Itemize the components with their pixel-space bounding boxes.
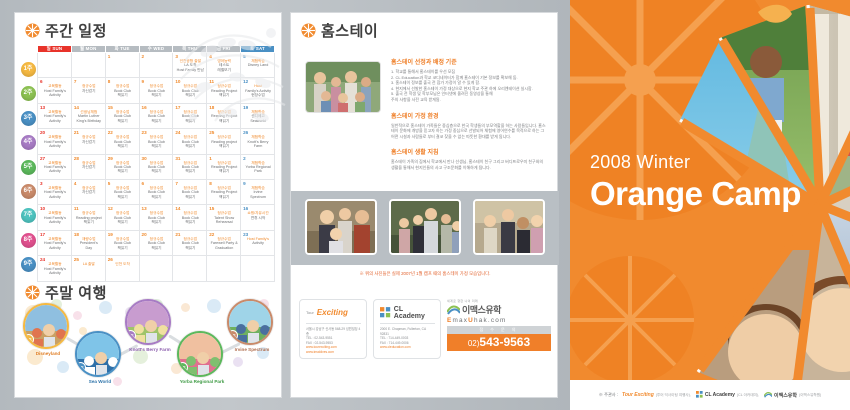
calendar-cell-text: 정규수업Book Club책읽기	[142, 110, 172, 123]
calendar-cell-text: 정규수업Book Club책읽기	[108, 237, 138, 250]
calendar-cell-text: 교육활동Host Family'sActivity	[40, 161, 70, 174]
calendar-cell-line: 레벨보기	[210, 68, 238, 72]
calendar-cell-line: Activity	[41, 119, 69, 123]
calendar-cell-line: 자신감기	[75, 140, 103, 144]
decorative-bubble	[207, 299, 221, 313]
decorative-bubble	[73, 311, 82, 320]
calendar-cell-text: 정규수업자신감기	[74, 186, 104, 195]
cl-academy-url[interactable]: www.cleducation.com	[380, 345, 435, 350]
calendar-cell[interactable]	[38, 53, 72, 78]
tour-exciting-logo: Tour Exciting	[306, 305, 361, 320]
calendar-cell[interactable]: 2	[139, 53, 173, 78]
calendar-cell-line: King's Birthday	[75, 119, 103, 123]
cl-academy-logo: CL Academy	[380, 305, 435, 320]
orange-slice-icon	[301, 23, 316, 38]
calendar-cell-line: Park	[244, 169, 272, 173]
calendar-cell-text: 체험학습Yorba RegionalPark	[243, 161, 273, 174]
cl-academy-logo-text: CL Academy	[394, 306, 435, 320]
calendar-cell-line: Disney Land	[244, 63, 272, 67]
trip-week-badge: 4주	[125, 330, 136, 341]
calendar-cell-text: 인천공항 출발LA 도착Host Family 만남	[175, 59, 205, 72]
calendar-cell-line: 책읽기	[176, 195, 204, 199]
divider	[306, 323, 361, 324]
week-badge-9: 9주	[21, 257, 36, 272]
calendar-cell-line: 책읽기	[210, 144, 238, 148]
calendar-cell-line: Activity	[41, 220, 69, 224]
calendar-cell[interactable]: 21정규수업Book Club책읽기	[173, 230, 207, 255]
week-badge-6: 6주	[21, 184, 36, 199]
calendar-cell[interactable]: 21정규수업자신감기	[71, 129, 105, 154]
calendar-cell[interactable]: 12정규수업Book Club책읽기	[105, 205, 139, 230]
tour-exciting-address: 서울시 강남구 신사동 568-29 성원빌딩 4층	[306, 327, 361, 336]
calendar-cell-text: 정규수업Book Club책읽기	[175, 84, 205, 97]
sponsor-name: CL Academy	[705, 392, 735, 398]
calendar-cell-text: 정규수업Farewell Party &Graduation	[209, 237, 239, 250]
sponsor-3: 이맥스유학(이맥스유학원)	[764, 391, 821, 399]
trip-destination-label: Knott's Berry Farm	[125, 347, 175, 352]
emax-swoosh-icon	[447, 304, 460, 315]
homestay-block-heading: 홈스테이 생활 지침	[391, 147, 547, 156]
trip-destination-label: Yorba Regional Park	[177, 379, 227, 384]
cl-academy-dots-icon	[380, 307, 391, 318]
calendar-cell-line: 책읽기	[176, 220, 204, 224]
orange-slice-icon	[25, 23, 40, 38]
tour-exciting-logo-small: Tour	[306, 310, 314, 315]
calendar-cell-line: Farm	[244, 144, 272, 148]
calendar-cell[interactable]: 22정규수업Book Club책읽기	[105, 129, 139, 154]
trip-week-badge: 3주	[75, 362, 86, 373]
homestay-family-photo-2	[389, 199, 461, 255]
calendar-cell-line: 책읽기	[143, 169, 171, 173]
calendar-cell[interactable]: 17교육활동Host Family'sActivity	[38, 230, 72, 255]
weekend-trip-section: 주말 여행 1주Disneyland3주Sea World4주Knott's B…	[15, 275, 283, 399]
calendar-cell[interactable]: 16쇼핑/자유시간연휴 시작	[241, 205, 275, 230]
week-badge-8: 8주	[21, 233, 36, 248]
calendar-cell[interactable]: 9체험학습IrvineSpectrum	[241, 179, 275, 204]
calendar-cell-text: HostFamily's Activity현장수업	[243, 84, 273, 97]
calendar-cell-line: 책읽기	[109, 246, 137, 250]
emax-tel-digits: 543-9563	[479, 335, 530, 349]
cl-academy-address: 2000 E. Chapman, Fullerton, CA 92831	[380, 327, 435, 336]
calendar-cell[interactable]: 1	[105, 53, 139, 78]
calendar-cell[interactable]: 20교육활동Host Family'sActivity	[38, 129, 72, 154]
calendar-cell-line: Graduation	[210, 246, 238, 250]
brochure-page: 주간 일정 1주2주3주4주5주6주7주8주9주 일 SUN월 MON화 TUE…	[0, 0, 850, 410]
calendar-cell[interactable]: 11정규수업Reading project책읽기	[71, 205, 105, 230]
calendar-cell-text: 교육활동Host Family'sActivity	[40, 186, 70, 199]
calendar-cell[interactable]: 27교육활동Host Family'sActivity	[38, 154, 72, 179]
calendar-cell[interactable]: 3교육활동Host Family'sActivity	[38, 179, 72, 204]
week-badge-4: 4주	[21, 135, 36, 150]
calendar-cell[interactable]: 15정규수업Talent ShowRehearsal	[207, 205, 241, 230]
calendar-cell-text: 정규수업Reading Project책읽기	[209, 161, 239, 174]
homestay-group-photo	[305, 61, 381, 113]
sponsor-korean-name: (투어 익사이팅 여행사),	[656, 393, 691, 398]
calendar-cell[interactable]: 19정규수업Book Club책읽기	[105, 230, 139, 255]
calendar-cell-line: 자신감기	[75, 190, 103, 194]
calendar-cell[interactable]: 11정규수업Reading Project책읽기	[207, 78, 241, 103]
calendar-cell[interactable]: 31정규수업Book Club책읽기	[173, 154, 207, 179]
calendar-cell-text: Host Family'sActivity	[243, 237, 273, 246]
calendar-cell[interactable]: 14정규수업Book Club책읽기	[173, 205, 207, 230]
calendar-cell-line: 책읽기	[143, 220, 171, 224]
sponsor-1: Tour Exciting(투어 익사이팅 여행사),	[622, 392, 691, 398]
calendar-cell[interactable]: 25정규수업Reading project책읽기	[207, 129, 241, 154]
divider	[380, 323, 435, 324]
trip-photo: 3주	[75, 331, 121, 377]
homestay-family-photo-1	[305, 199, 377, 255]
calendar-cell-text: 정규수업Talent ShowRehearsal	[209, 211, 239, 224]
emax-phone-number[interactable]: 02)543-9563	[447, 334, 551, 351]
calendar-cell[interactable]: 24정규수업Book Club책읽기	[173, 129, 207, 154]
homestay-list-tail: 주의 사항을 사전 교육 받게됨.	[391, 97, 547, 103]
calendar-cell[interactable]: 29정규수업Book Club책읽기	[105, 154, 139, 179]
decorative-bubble	[233, 357, 243, 367]
calendar-cell[interactable]: 8정규수업Book Club책읽기	[105, 78, 139, 103]
calendar-cell[interactable]: 7정규수업Book Club책읽기	[173, 179, 207, 204]
calendar-row: 17교육활동Host Family'sActivity18재량수업Preside…	[38, 230, 275, 255]
calendar-cell-line: 책읽기	[143, 119, 171, 123]
sponsor-logo-icon: Tour Exciting	[622, 392, 654, 398]
trip-destination[interactable]: 6주Irvine Spectrum	[227, 299, 277, 352]
calendar-cell-line: Activity	[41, 195, 69, 199]
calendar-cell-text: 체험학습IrvineSpectrum	[243, 186, 273, 199]
calendar-cell-line: 책읽기	[109, 93, 137, 97]
homestay-block: 홈스테이 생활 지침홈스테이 가족의 집에서 학교에서 만나 선생님, 홈스테이…	[391, 147, 547, 170]
calendar-cell-text: 정규수업Book Club책읽기	[108, 161, 138, 174]
decorative-bubble	[99, 301, 112, 314]
calendar-cell[interactable]: 19체험학습샌디에고Seaworld	[241, 103, 275, 128]
calendar-cell-line: LA 출발	[75, 262, 103, 266]
calendar-body: 123인천공항 출발LA 도착Host Family 만남4영어능력테스트레벨보…	[38, 53, 275, 282]
panel-weekly-schedule: 주간 일정 1주2주3주4주5주6주7주8주9주 일 SUN월 MON화 TUE…	[14, 12, 282, 398]
calendar-cell[interactable]: 30정규수업Book Club책읽기	[139, 154, 173, 179]
calendar-cell-line: Day	[75, 246, 103, 250]
calendar-cell-text: 정규수업Book Club책읽기	[142, 237, 172, 250]
calendar-cell[interactable]: 14선생님체험Martin LutherKing's Birthday	[71, 103, 105, 128]
trip-week-badge: 6주	[227, 330, 238, 341]
calendar-cell-text: 정규수업자신감기	[74, 84, 104, 93]
homestay-family-photo-3	[473, 199, 545, 255]
calendar-cell-text: 교육활동Host Family'sActivity	[40, 84, 70, 97]
trip-destination[interactable]: 1주Disneyland	[23, 303, 73, 356]
trip-destination-label: Sea World	[75, 379, 125, 384]
calendar-cell-line: 책읽기	[210, 169, 238, 173]
calendar-cell-text: 정규수업Book Club책읽기	[142, 84, 172, 97]
calendar-row: 13교육활동Host Family'sActivity14선생님체험Martin…	[38, 103, 275, 128]
calendar-header-4: 목 THU	[173, 46, 207, 53]
calendar-cell-text: 정규수업Book Club책읽기	[175, 110, 205, 123]
emax-logo-text: 이맥스유학	[462, 303, 501, 316]
calendar-row: 10교육활동Host Family'sActivity11정규수업Reading…	[38, 205, 275, 230]
trip-photo: 6주	[227, 299, 273, 345]
calendar-header-2: 화 TUE	[105, 46, 139, 53]
footer-partner-row: Tour Exciting 서울시 강남구 신사동 568-29 성원빌딩 4층…	[299, 299, 551, 359]
calendar-cell-text: 정규수업Book Club책읽기	[108, 211, 138, 224]
calendar-cell[interactable]: 23Host Family'sActivity	[241, 230, 275, 255]
calendar-cell-line: 책읽기	[109, 220, 137, 224]
calendar-cell-text: 정규수업Book Club책읽기	[142, 161, 172, 174]
calendar-header-3: 수 WED	[139, 46, 173, 53]
footer-card-emax: 세계로 향한 나의 미래 이맥스유학 EmaxUhak.com 접 수 문 의 …	[447, 299, 551, 359]
calendar-cell-line: 인천 도착	[109, 262, 137, 266]
panel-cover: 2008 Winter Orange Camp ※ 주관사 : Tour Exc…	[570, 0, 850, 410]
panel-homestay: 홈스테이 홈스테이 선정과 배정 기준1. 학교를 통해서 홈스테이를 우선 모…	[290, 12, 558, 398]
calendar-cell[interactable]: 12HostFamily's Activity현장수업	[241, 78, 275, 103]
calendar-row: 123인천공항 출발LA 도착Host Family 만남4영어능력테스트레벨보…	[38, 53, 275, 78]
calendar-table: 일 SUN월 MON화 TUE수 WED목 THU금 FRI토 SAT 123인…	[37, 45, 275, 282]
calendar-cell-line: Reading Project	[210, 114, 238, 118]
calendar-cell-text: 교육활동Host Family'sActivity	[40, 110, 70, 123]
calendar-cell-text: 정규수업Book Club책읽기	[175, 237, 205, 250]
photo-strip-caption: ※ 위의 사진들은 실제 2007년 1월 캠프 때의 홈스테이 가정 모습입니…	[291, 271, 559, 277]
calendar-cell[interactable]: 20정규수업Book Club책읽기	[139, 230, 173, 255]
week-badge-3: 3주	[21, 111, 36, 126]
calendar-cell-line: 자신감기	[75, 89, 103, 93]
calendar-cell-line: 책읽기	[210, 195, 238, 199]
calendar-cell[interactable]: 10정규수업Book Club책읽기	[173, 78, 207, 103]
calendar-cell[interactable]: 23정규수업Book Club책읽기	[139, 129, 173, 154]
trip-week-badge: 1주	[23, 334, 34, 345]
calendar-cell-line: 책읽기	[109, 195, 137, 199]
sponsor-logo-icon	[696, 391, 703, 399]
calendar-cell[interactable]: 15정규수업Book Club책읽기	[105, 103, 139, 128]
calendar-cell-text: 교육활동Host Family'sActivity	[40, 262, 70, 275]
sponsor-2: CL Academy(CL 아카데미),	[696, 391, 759, 399]
homestay-block-heading: 홈스테이 가정 환경	[391, 111, 547, 120]
footer-card-tour-exciting: Tour Exciting 서울시 강남구 신사동 568-29 성원빌딩 4층…	[299, 299, 367, 359]
calendar-cell-text: 인천 도착	[108, 262, 138, 266]
calendar-cell-line: 책읽기	[143, 246, 171, 250]
calendar-cell-text: 정규수업Book Club책읽기	[108, 110, 138, 123]
calendar-cell-text: 영어능력테스트레벨보기	[209, 59, 239, 72]
calendar-cell-line: Activity	[41, 93, 69, 97]
calendar-cell-line: Activity	[41, 169, 69, 173]
trip-destination-label: Irvine Spectrum	[227, 347, 277, 352]
calendar-cell-text: 선생님체험Martin LutherKing's Birthday	[74, 110, 104, 123]
homestay-block: 홈스테이 가정 환경일반적으로 홈스테이 가족들은 중심층으로 한국 학생들의 …	[391, 111, 547, 140]
homestay-paragraph: 홈스테이 가족의 집에서 학교에서 만나 선생님, 홈스테이 친구 그리고 버디…	[391, 159, 547, 170]
week-badge-column: 1주2주3주4주5주6주7주8주9주	[19, 45, 37, 282]
footer-card-cl-academy: CL Academy 2000 E. Chapman, Fullerton, C…	[373, 299, 441, 359]
calendar-cell-line: 책읽기	[176, 93, 204, 97]
calendar-cell-line: 책읽기	[176, 169, 204, 173]
calendar-cell-line: Martin Luther	[75, 114, 103, 118]
calendar-cell-line: Host Family's	[41, 114, 69, 118]
tour-exciting-url-2[interactable]: www.tmaldives.com	[306, 350, 361, 355]
homestay-text-body: 홈스테이 선정과 배정 기준1. 학교를 통해서 홈스테이를 우선 모집2. C…	[391, 57, 547, 179]
homestay-title: 홈스테이	[321, 20, 378, 41]
calendar-cell[interactable]: 6교육활동Host Family'sActivity	[38, 78, 72, 103]
calendar-cell-line: Host Family 만남	[176, 68, 204, 72]
calendar-cell-text: 정규수업Reading Project책읽기	[209, 186, 239, 199]
calendar-cell[interactable]: 7정규수업자신감기	[71, 78, 105, 103]
trip-destination[interactable]: 3주Sea World	[75, 331, 125, 384]
calendar-cell[interactable]: 16정규수업Book Club책읽기	[139, 103, 173, 128]
trip-photo: 4주	[125, 299, 171, 345]
calendar-day-number: 1	[108, 54, 138, 59]
weekly-schedule-title: 주간 일정	[45, 20, 107, 41]
trip-photo: 1주	[23, 303, 69, 349]
homestay-paragraph: 일반적으로 홈스테이 가족들은 중심층으로 한국 학생들의 부모역할을 하는 사…	[391, 123, 547, 140]
homestay-header: 홈스테이	[291, 13, 557, 43]
calendar-day-number: 2	[142, 54, 172, 59]
calendar-cell-line: Activity	[244, 241, 272, 245]
calendar-cell-text: 정규수업Book Club책읽기	[175, 135, 205, 148]
calendar-cell-text: 쇼핑/자유시간연휴 시작	[243, 211, 273, 220]
calendar-cell-line: 책읽기	[210, 119, 238, 123]
calendar-cell[interactable]: 8정규수업Reading Project책읽기	[207, 179, 241, 204]
calendar-cell[interactable]: 18재량수업President'sDay	[71, 230, 105, 255]
calendar-cell-line: Farewell Party &	[210, 241, 238, 245]
calendar-row: 20교육활동Host Family'sActivity21정규수업자신감기22정…	[38, 129, 275, 154]
calendar-cell-line: Spectrum	[244, 195, 272, 199]
calendar-cell-text: 재량수업President'sDay	[74, 237, 104, 250]
tour-exciting-logo-main: Exciting	[317, 308, 348, 317]
schedule-calendar: 1주2주3주4주5주6주7주8주9주 일 SUN월 MON화 TUE수 WED목…	[19, 45, 275, 282]
calendar-cell-line: 책읽기	[109, 119, 137, 123]
calendar-cell-line: Host Family's	[41, 241, 69, 245]
calendar-row: 6교육활동Host Family'sActivity7정규수업자신감기8정규수업…	[38, 78, 275, 103]
calendar-cell-text: 정규수업Book Club책읽기	[175, 211, 205, 224]
calendar-cell-line: 책읽기	[176, 119, 204, 123]
trip-map: 1주Disneyland3주Sea World4주Knott's Berry F…	[21, 297, 277, 397]
calendar-cell-text: 정규수업Book Club책읽기	[142, 211, 172, 224]
homestay-block: 홈스테이 선정과 배정 기준1. 학교를 통해서 홈스테이를 우선 모집2. C…	[391, 57, 547, 103]
calendar-cell-line: Activity	[41, 246, 69, 250]
calendar-header-row: 일 SUN월 MON화 TUE수 WED목 THU금 FRI토 SAT	[38, 46, 275, 53]
calendar-cell-line: 책읽기	[109, 169, 137, 173]
calendar-cell-text: 교육활동Host Family'sActivity	[40, 135, 70, 148]
sponsor-label: ※ 주관사 :	[599, 392, 618, 398]
calendar-cell-line: 현장수업	[244, 93, 272, 97]
week-badge-7: 7주	[21, 208, 36, 223]
calendar-cell-text: 체험학습Knott's BerryFarm	[243, 135, 273, 148]
calendar-cell-line: 책읽기	[176, 144, 204, 148]
decorative-bubble	[181, 303, 190, 312]
sponsor-logo-icon	[764, 391, 772, 399]
calendar-cell-text: 정규수업자신감기	[74, 161, 104, 170]
calendar-cell-text: 정규수업Reading Project책읽기	[209, 110, 239, 123]
calendar-row: 27교육활동Host Family'sActivity28정규수업자신감기29정…	[38, 154, 275, 179]
calendar-cell[interactable]: 4영어능력테스트레벨보기	[207, 53, 241, 78]
calendar-cell-line: 책읽기	[143, 93, 171, 97]
calendar-header-1: 월 MON	[71, 46, 105, 53]
calendar-cell[interactable]: 26체험학습Knott's BerryFarm	[241, 129, 275, 154]
weekly-schedule-header: 주간 일정	[15, 13, 281, 43]
week-badge-2: 2주	[21, 86, 36, 101]
calendar-cell-line: Rehearsal	[210, 220, 238, 224]
calendar-row: 3교육활동Host Family'sActivity4정규수업자신감기5정규수업…	[38, 179, 275, 204]
calendar-cell[interactable]: 28정규수업자신감기	[71, 154, 105, 179]
homestay-photo-strip	[291, 191, 559, 265]
emax-area-code: 02)	[468, 339, 480, 348]
trip-destination[interactable]: 5주Yorba Regional Park	[177, 331, 227, 384]
calendar-cell[interactable]: 1정규수업Reading Project책읽기	[207, 154, 241, 179]
calendar-cell[interactable]: 6정규수업Book Club책읽기	[139, 179, 173, 204]
trip-destination[interactable]: 4주Knott's Berry Farm	[125, 299, 175, 352]
sponsor-korean-name: (CL 아카데미),	[737, 393, 759, 398]
calendar-cell-text: 정규수업Reading project책읽기	[74, 211, 104, 224]
calendar-cell-line: 책읽기	[210, 93, 238, 97]
calendar-cell-text: 정규수업Book Club책읽기	[175, 161, 205, 174]
trip-week-badge: 5주	[177, 362, 188, 373]
sponsor-korean-name: (이맥스유학원)	[799, 393, 821, 398]
calendar-cell-text: 교육활동Host Family'sActivity	[40, 237, 70, 250]
sponsor-name: 이맥스유학	[774, 392, 797, 399]
cover-year: 2008 Winter	[590, 152, 801, 173]
calendar-cell-line: 책읽기	[176, 246, 204, 250]
calendar-cell-text: 정규수업Book Club책읽기	[108, 186, 138, 199]
calendar-cell-line: Seaworld	[244, 119, 272, 123]
calendar-cell[interactable]: 22정규수업Farewell Party &Graduation	[207, 230, 241, 255]
calendar-header-5: 금 FRI	[207, 46, 241, 53]
calendar-cell-text: 정규수업Book Club책읽기	[108, 84, 138, 97]
calendar-cell-line: Activity	[41, 144, 69, 148]
calendar-cell-text: 정규수업Book Club책읽기	[175, 186, 205, 199]
calendar-cell-text: 교육활동Host Family'sActivity	[40, 211, 70, 224]
homestay-block-heading: 홈스테이 선정과 배정 기준	[391, 57, 547, 66]
emax-inquiry-bar: 접 수 문 의	[447, 326, 551, 334]
calendar-header-0: 일 SUN	[38, 46, 72, 53]
decorative-bubble	[57, 361, 69, 373]
calendar-cell[interactable]: 5정규수업Book Club책읽기	[105, 179, 139, 204]
calendar-cell[interactable]: 4정규수업자신감기	[71, 179, 105, 204]
calendar-cell-line: 책읽기	[75, 220, 103, 224]
emax-logo-block: 세계로 향한 나의 미래 이맥스유학 EmaxUhak.com 접 수 문 의 …	[447, 299, 551, 351]
calendar-cell-line: 책읽기	[143, 195, 171, 199]
calendar-cell-text: 정규수업Book Club책읽기	[108, 135, 138, 148]
calendar-cell-line: 책읽기	[109, 144, 137, 148]
calendar-cell[interactable]: 3인천공항 출발LA 도착Host Family 만남	[173, 53, 207, 78]
calendar-cell[interactable]: 5체험학습Disney Land	[241, 53, 275, 78]
week-badge-5: 5주	[21, 160, 36, 175]
week-badge-1: 1주	[21, 62, 36, 77]
calendar-cell-text: 정규수업Reading Project책읽기	[209, 84, 239, 97]
trip-photo: 5주	[177, 331, 223, 377]
emax-url-tail: hak.com	[474, 317, 507, 324]
calendar-cell-line: 자신감기	[75, 165, 103, 169]
calendar-cell-text: 정규수업자신감기	[74, 135, 104, 144]
calendar-header-6: 토 SAT	[241, 46, 275, 53]
calendar-cell[interactable]: 9정규수업Book Club책읽기	[139, 78, 173, 103]
calendar-cell[interactable]: 2체험학습Yorba RegionalPark	[241, 154, 275, 179]
calendar-cell[interactable]	[71, 53, 105, 78]
sponsor-list: Tour Exciting(투어 익사이팅 여행사),CL Academy(CL…	[622, 391, 821, 399]
calendar-cell[interactable]: 13정규수업Book Club책읽기	[139, 205, 173, 230]
calendar-cell[interactable]: 17정규수업Book Club책읽기	[173, 103, 207, 128]
calendar-cell[interactable]: 10교육활동Host Family'sActivity	[38, 205, 72, 230]
cover-title-block: 2008 Winter Orange Camp	[590, 152, 801, 213]
calendar-cell-text: 체험학습Disney Land	[243, 59, 273, 68]
calendar-cell-line: 연휴 시작	[244, 216, 272, 220]
calendar-cell-text: 정규수업Book Club책읽기	[142, 186, 172, 199]
calendar-cell-text: LA 출발	[74, 262, 104, 266]
calendar-cell[interactable]: 13교육활동Host Family'sActivity	[38, 103, 72, 128]
emax-website[interactable]: EmaxUhak.com	[447, 317, 551, 324]
calendar-cell-line: 책읽기	[143, 144, 171, 148]
calendar-cell-text: 정규수업Reading project책읽기	[209, 135, 239, 148]
calendar-cell-text: 정규수업Book Club책읽기	[142, 135, 172, 148]
cover-sponsor-bar: ※ 주관사 : Tour Exciting(투어 익사이팅 여행사),CL Ac…	[570, 380, 850, 410]
calendar-cell-text: 체험학습샌디에고Seaworld	[243, 110, 273, 123]
calendar-cell[interactable]: 18정규수업Reading Project책읽기	[207, 103, 241, 128]
emax-url-mid: max	[452, 317, 468, 324]
cover-main-title: Orange Camp	[590, 175, 801, 213]
trip-destination-label: Disneyland	[23, 351, 73, 356]
